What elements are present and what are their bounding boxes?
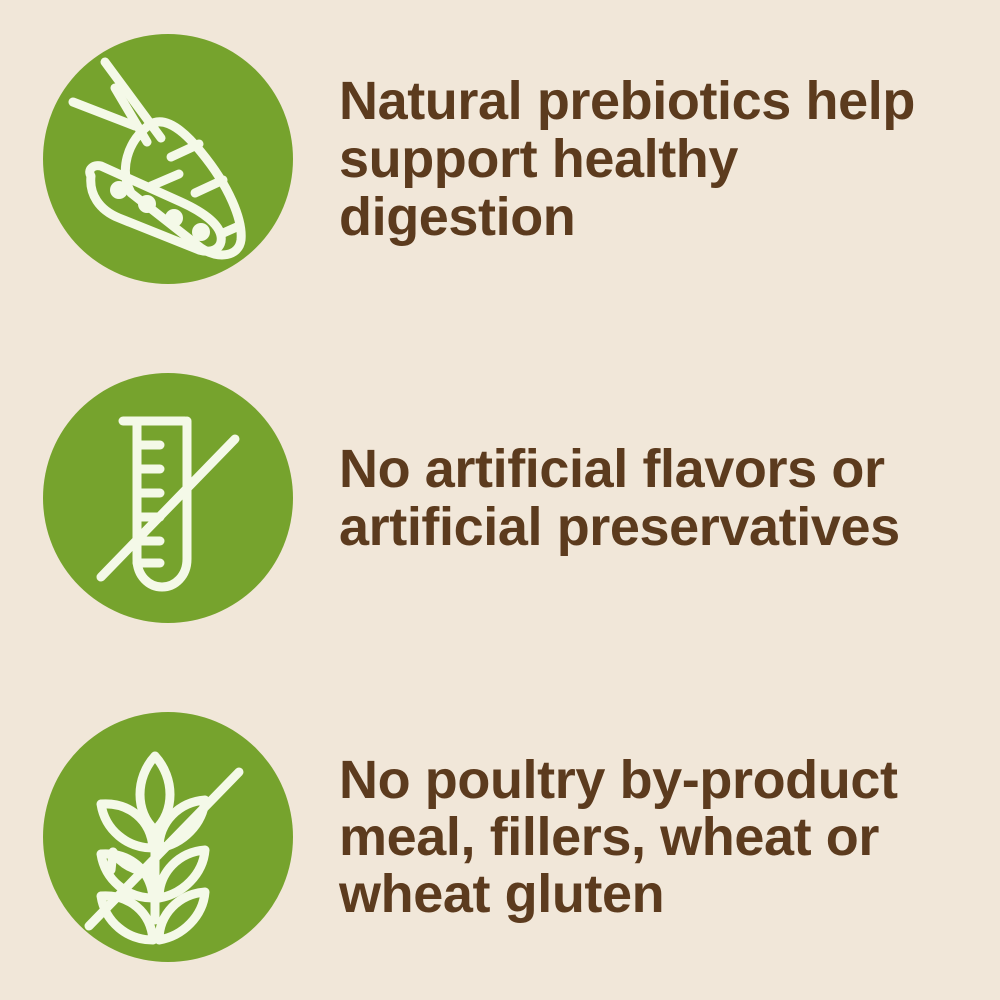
no-wheat-icon bbox=[43, 712, 293, 962]
benefit-text: No artificial flavors or artificial pres… bbox=[339, 440, 1000, 556]
no-test-tube-icon bbox=[43, 373, 293, 623]
benefits-panel: Natural prebiotics help support healthy … bbox=[0, 0, 1000, 1000]
benefit-icon-badge bbox=[43, 712, 293, 962]
benefit-text: No poultry by-product meal, fillers, whe… bbox=[339, 752, 1000, 923]
benefit-row: Natural prebiotics help support healthy … bbox=[0, 34, 1000, 284]
benefit-icon-badge bbox=[43, 373, 293, 623]
benefit-icon-badge bbox=[43, 34, 293, 284]
benefit-row: No poultry by-product meal, fillers, whe… bbox=[0, 712, 1000, 962]
carrot-pea-pod-icon bbox=[43, 34, 293, 284]
benefit-row: No artificial flavors or artificial pres… bbox=[0, 373, 1000, 623]
benefit-text: Natural prebiotics help support healthy … bbox=[339, 72, 1000, 246]
